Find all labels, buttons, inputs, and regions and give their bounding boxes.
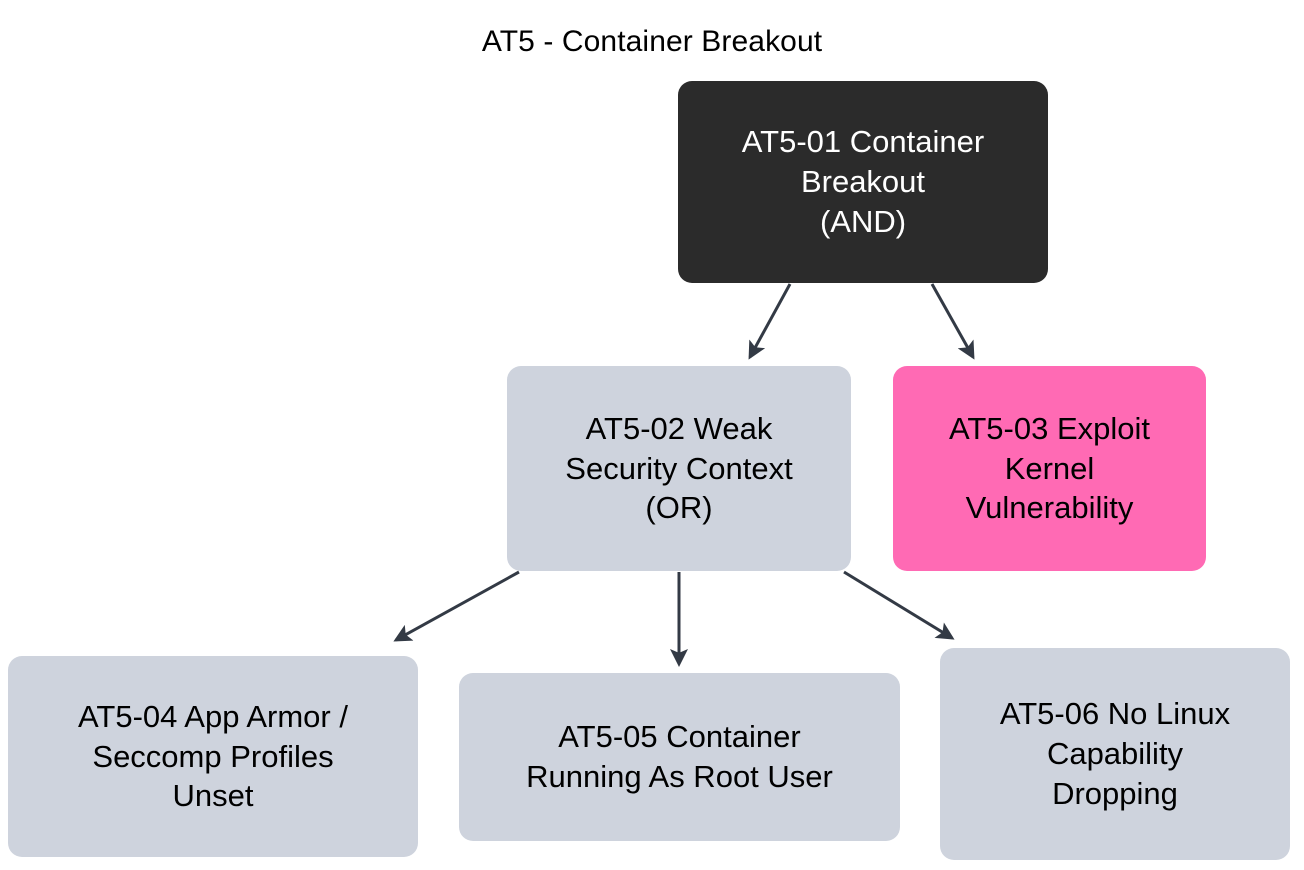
node-label: AT5-03 Exploit Kernel Vulnerability [903, 409, 1196, 528]
node-at5-03[interactable]: AT5-03 Exploit Kernel Vulnerability [893, 366, 1206, 571]
page-title: AT5 - Container Breakout [0, 24, 1304, 60]
node-label: AT5-02 Weak Security Context (OR) [517, 409, 841, 528]
edge-at5-02-to-at5-04 [396, 572, 519, 640]
node-label: AT5-04 App Armor / Seccomp Profiles Unse… [18, 697, 408, 816]
node-at5-02[interactable]: AT5-02 Weak Security Context (OR) [507, 366, 851, 571]
node-at5-04[interactable]: AT5-04 App Armor / Seccomp Profiles Unse… [8, 656, 418, 857]
attack-tree-diagram: AT5 - Container Breakout AT5-01 Containe… [0, 0, 1304, 870]
edge-at5-01-to-at5-02 [750, 284, 790, 357]
node-at5-01[interactable]: AT5-01 Container Breakout (AND) [678, 81, 1048, 283]
node-label: AT5-06 No Linux Capability Dropping [950, 694, 1280, 813]
node-label: AT5-01 Container Breakout (AND) [688, 122, 1038, 241]
node-at5-06[interactable]: AT5-06 No Linux Capability Dropping [940, 648, 1290, 860]
edge-at5-02-to-at5-06 [844, 572, 952, 638]
edge-at5-01-to-at5-03 [932, 284, 973, 357]
page-title-text: AT5 - Container Breakout [482, 25, 822, 58]
node-at5-05[interactable]: AT5-05 Container Running As Root User [459, 673, 900, 841]
node-label: AT5-05 Container Running As Root User [469, 717, 890, 796]
